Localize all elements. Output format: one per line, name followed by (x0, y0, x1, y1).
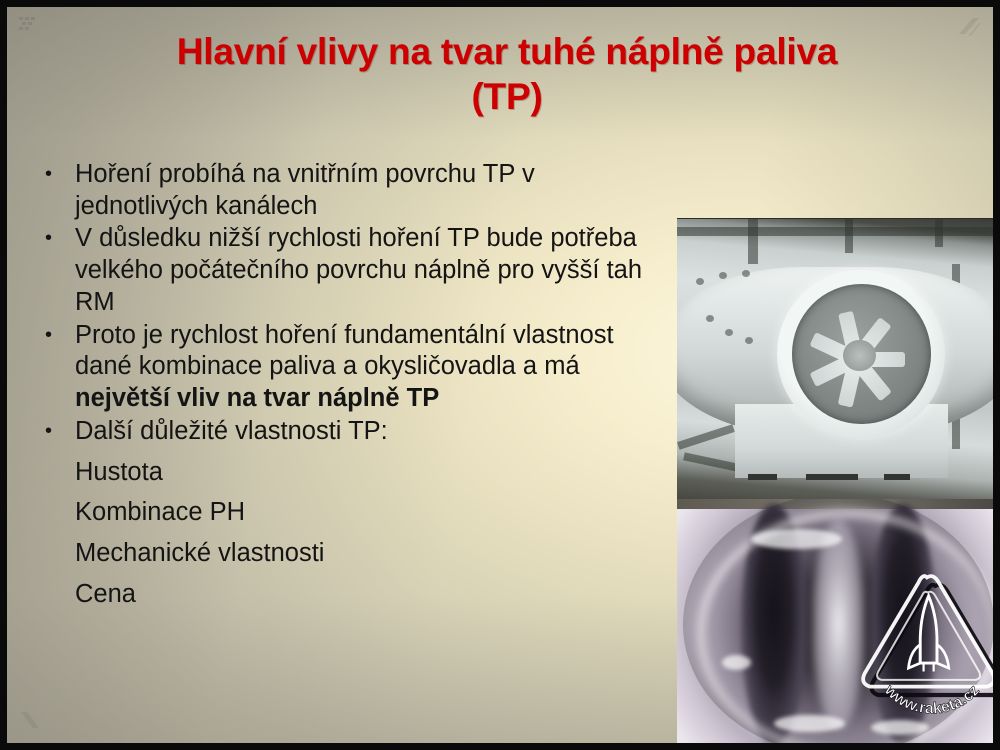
bullet-item: • V důsledku nižší rychlosti hoření TP b… (37, 223, 667, 318)
slide-body: • Hoření probíhá na vnitřním povrchu TP … (37, 159, 667, 620)
photo-top-bolt (725, 329, 733, 336)
slide-title: Hlavní vlivy na tvar tuhé náplně paliva … (59, 29, 955, 119)
bullet-text: V důsledku nižší rychlosti hoření TP bud… (75, 223, 667, 318)
photo-bottom-specular (751, 529, 841, 549)
bullet-text: Další důležité vlastnosti TP: (75, 416, 667, 448)
sub-item: Cena (37, 579, 667, 611)
photo-top-bolt (745, 337, 753, 344)
photo-top-grain-hub (843, 340, 875, 371)
slide-title-line-2: (TP) (471, 76, 542, 117)
bullet-text-emphasis: největší vliv na tvar náplně TP (75, 384, 439, 412)
photo-top-foot (884, 474, 910, 480)
photo-top-pipe (845, 219, 853, 253)
bullet-text-normal: Proto je rychlost hoření fundamentální v… (75, 321, 614, 381)
bullet-marker-icon: • (37, 159, 75, 189)
bullet-item: • Hoření probíhá na vnitřním povrchu TP … (37, 159, 667, 222)
photo-top-foot (806, 474, 858, 480)
sub-item: Kombinace PH (37, 497, 667, 529)
rocket-motor-photo-bottom: www.raketa.cz (677, 499, 1000, 750)
sub-item: Mechanické vlastnosti (37, 538, 667, 570)
photo-top-pipe (935, 219, 943, 247)
photo-top-foot (748, 474, 777, 480)
bullet-item: • Další důležité vlastnosti TP: (37, 416, 667, 448)
bullet-text: Hoření probíhá na vnitřním povrchu TP v … (75, 159, 667, 222)
photo-top-bolt (706, 315, 714, 322)
slide-title-line-1: Hlavní vlivy na tvar tuhé náplně paliva (177, 31, 838, 72)
presentation-slide: Hlavní vlivy na tvar tuhé náplně paliva … (0, 0, 1000, 750)
photo-bottom-specular (722, 655, 751, 670)
photo-top-pipe (748, 219, 758, 264)
photo-bottom-specular (871, 720, 929, 735)
photo-top-pipe (677, 227, 1000, 235)
rocket-motor-photo-top (677, 218, 1000, 500)
bullet-text: Proto je rychlost hoření fundamentální v… (75, 320, 667, 415)
bullet-item: • Proto je rychlost hoření fundamentální… (37, 320, 667, 415)
sub-item: Hustota (37, 457, 667, 489)
bullet-marker-icon: • (37, 320, 75, 350)
bullet-marker-icon: • (37, 223, 75, 253)
photo-top-bolt (742, 270, 750, 277)
bullet-marker-icon: • (37, 416, 75, 446)
